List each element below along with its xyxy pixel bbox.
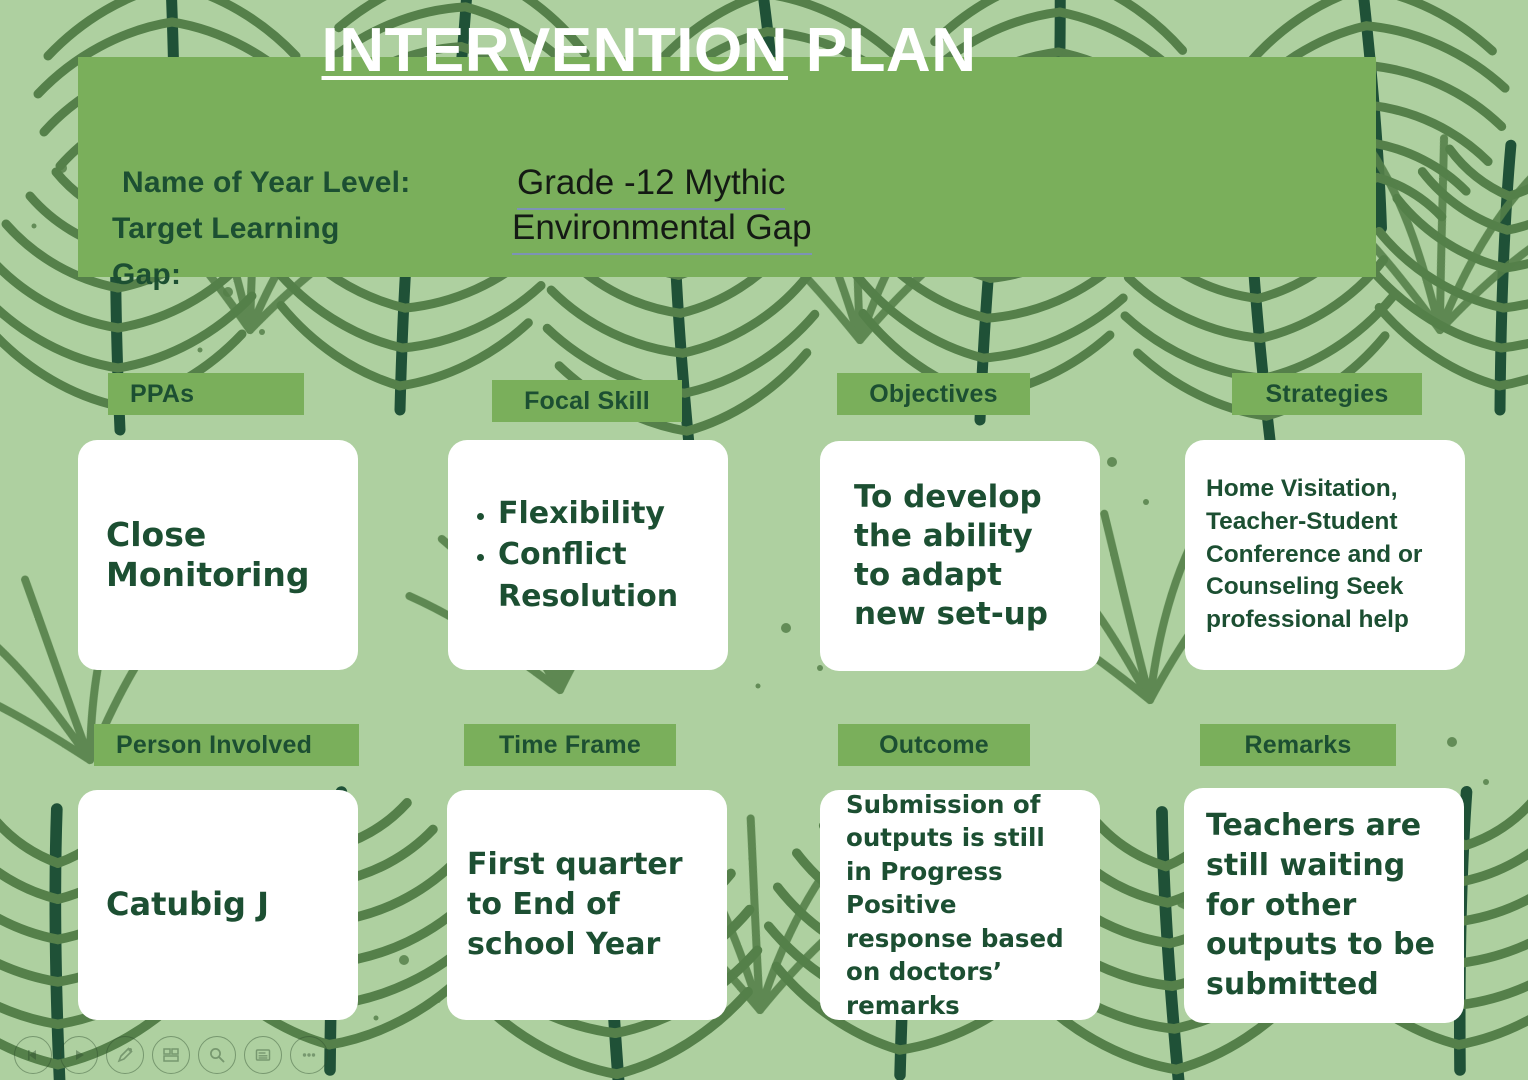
target-learning-gap-label: Target Learning Gap: xyxy=(112,206,492,297)
year-level-value[interactable]: Grade -12 Mythic xyxy=(517,160,785,210)
card-ppas-text: Close Monitoring xyxy=(106,515,330,596)
page-title-rest: PLAN xyxy=(788,16,977,85)
column-header-outcome: Outcome xyxy=(838,724,1030,766)
card-ppas[interactable]: Close Monitoring xyxy=(78,440,358,670)
list-item: Flexibility xyxy=(498,493,712,534)
column-header-focal-skill: Focal Skill xyxy=(492,380,682,422)
card-focal-skill[interactable]: Flexibility Conflict Resolution xyxy=(448,440,728,670)
ellipsis-icon xyxy=(300,1046,318,1064)
target-learning-gap-value[interactable]: Environmental Gap xyxy=(512,205,812,255)
magnifier-icon xyxy=(208,1046,226,1064)
column-header-strategies: Strategies xyxy=(1232,373,1422,415)
focal-skill-list: Flexibility Conflict Resolution xyxy=(464,493,712,617)
zoom-button[interactable] xyxy=(198,1036,236,1074)
previous-slide-button[interactable] xyxy=(14,1036,52,1074)
year-level-label: Name of Year Level: xyxy=(122,160,410,206)
column-header-ppas: PPAs xyxy=(108,373,304,415)
card-strategies-text: Home Visitation, Teacher-Student Confere… xyxy=(1206,473,1444,637)
notes-icon xyxy=(254,1046,272,1064)
card-strategies[interactable]: Home Visitation, Teacher-Student Confere… xyxy=(1185,440,1465,670)
card-remarks[interactable]: Teachers are still waiting for other out… xyxy=(1184,788,1464,1023)
card-objectives-text: To develop the ability to adapt new set-… xyxy=(854,478,1066,634)
page-title: INTERVENTION PLAN xyxy=(0,18,1298,83)
page-title-underlined: INTERVENTION xyxy=(322,16,788,85)
card-time-frame-text: First quarter to End of school Year xyxy=(467,845,707,965)
card-remarks-text: Teachers are still waiting for other out… xyxy=(1206,806,1442,1005)
presentation-toolbar[interactable] xyxy=(14,1036,328,1074)
play-button[interactable] xyxy=(60,1036,98,1074)
column-header-objectives: Objectives xyxy=(837,373,1030,415)
card-outcome-text: Submission of outputs is still in Progre… xyxy=(846,788,1074,1023)
pen-icon xyxy=(116,1046,134,1064)
more-options-button[interactable] xyxy=(290,1036,328,1074)
card-outcome[interactable]: Submission of outputs is still in Progre… xyxy=(820,790,1100,1020)
card-objectives[interactable]: To develop the ability to adapt new set-… xyxy=(820,441,1100,671)
play-icon xyxy=(71,1047,87,1063)
card-person-involved[interactable]: Catubig J xyxy=(78,790,358,1020)
card-time-frame[interactable]: First quarter to End of school Year xyxy=(447,790,727,1020)
layout-button[interactable] xyxy=(152,1036,190,1074)
pen-tool-button[interactable] xyxy=(106,1036,144,1074)
list-item: Conflict Resolution xyxy=(498,534,712,617)
column-header-time-frame: Time Frame xyxy=(464,724,676,766)
card-person-involved-text: Catubig J xyxy=(106,885,330,924)
column-header-remarks: Remarks xyxy=(1200,724,1396,766)
layout-icon xyxy=(162,1046,180,1064)
column-header-person-involved: Person Involved xyxy=(94,724,359,766)
presentation-slide: INTERVENTION PLAN Name of Year Level: Gr… xyxy=(0,0,1528,1080)
previous-icon xyxy=(25,1047,41,1063)
presenter-notes-button[interactable] xyxy=(244,1036,282,1074)
